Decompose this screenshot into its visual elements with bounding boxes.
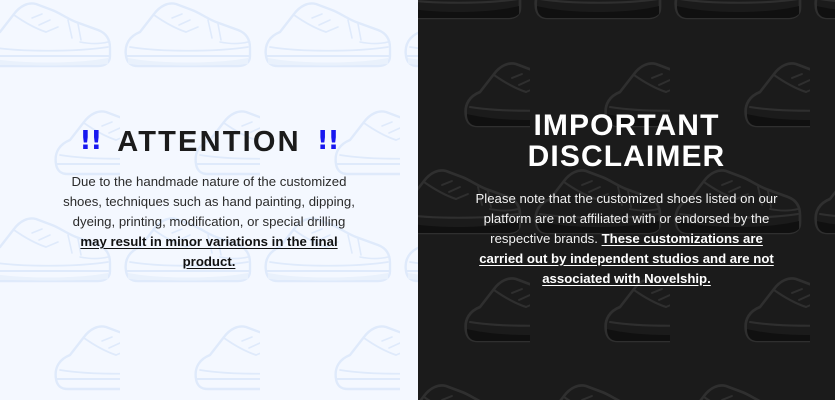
disclaimer-title: IMPORTANT DISCLAIMER [446,111,807,173]
attention-panel: !! ATTENTION !! Due to the handmade natu… [0,0,418,400]
attention-body: Due to the handmade nature of the custom… [59,172,359,272]
disclaimer-content: IMPORTANT DISCLAIMER Please note that th… [418,111,835,289]
attention-title: ATTENTION [117,128,301,157]
disclaimer-banner: !! ATTENTION !! Due to the handmade natu… [0,0,835,400]
attention-body-normal: Due to the handmade nature of the custom… [63,174,355,229]
attention-body-emphasis: may result in minor variations in the fi… [80,234,337,269]
double-exclamation-left-icon: !! [79,128,101,154]
disclaimer-body: Please note that the customized shoes li… [467,189,787,289]
disclaimer-panel: IMPORTANT DISCLAIMER Please note that th… [418,0,835,400]
attention-heading-row: !! ATTENTION !! [28,128,390,157]
attention-content: !! ATTENTION !! Due to the handmade natu… [0,128,418,272]
disclaimer-title-line-2: DISCLAIMER [528,140,726,173]
double-exclamation-right-icon: !! [317,128,339,154]
disclaimer-title-line-1: IMPORTANT [534,109,720,142]
